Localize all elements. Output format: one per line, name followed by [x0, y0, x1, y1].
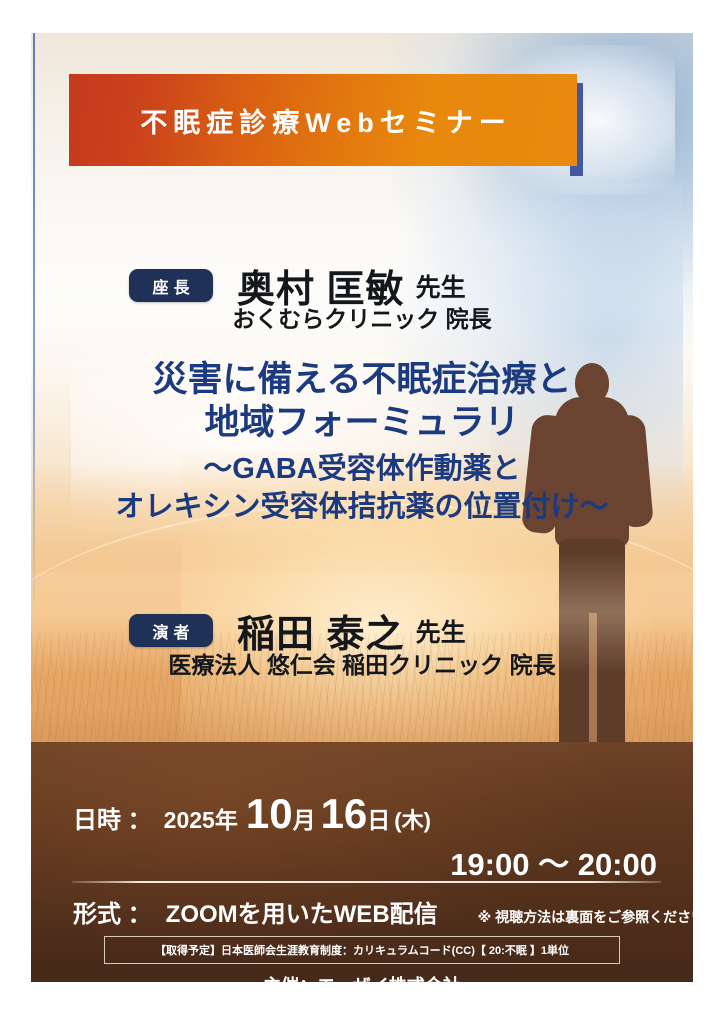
date-year: 2025年 [164, 801, 238, 835]
date-day-number: 16 [321, 790, 368, 838]
panel-divider [72, 881, 661, 883]
speaker-role-badge: 演者 [129, 614, 213, 647]
date-day-unit: 日 [367, 801, 390, 835]
chair-role-badge: 座長 [129, 269, 213, 302]
banner-body: 不眠症診療Webセミナー [69, 74, 577, 166]
lecture-title-line-1: 災害に備える不眠症治療と [31, 359, 693, 402]
title-banner: 不眠症診療Webセミナー [69, 74, 589, 174]
details-panel: 日時 ： 2025年 10 月 16 日 (木) 19:00 ～ 20:00 形… [31, 742, 693, 982]
credit-box: 【取得予定】日本医師会生涯教育制度：カリキュラムコード(CC)【 20:不眠 】… [104, 936, 620, 964]
banner-title-text: 不眠症診療Webセミナー [134, 101, 512, 140]
format-note: ※ 視聴方法は裏面をご参照ください [478, 907, 693, 927]
lecture-title-line-2: 地域フォーミュラリ [31, 402, 693, 445]
time-range: 19:00 ～ 20:00 [450, 839, 657, 884]
date-weekday: (木) [394, 803, 431, 835]
lecture-title-block: 災害に備える不眠症治療と 地域フォーミュラリ ～GABA受容体作動薬と オレキシ… [31, 359, 693, 525]
speaker-honorific: 先生 [416, 613, 466, 649]
chair-honorific: 先生 [416, 268, 466, 304]
sponsor-line: 主催：エーザイ株式会社 [31, 972, 693, 982]
chair-affiliation: おくむらクリニック 院長 [31, 300, 693, 334]
lecture-subtitle-line-2: オレキシン受容体拮抗薬の位置付け～ [31, 490, 693, 525]
poster-root: 不眠症診療Webセミナー 座長 奥村 匡敏 先生 おくむらクリニック 院長 災害… [0, 0, 724, 1024]
date-month-number: 10 [246, 790, 293, 838]
date-month-unit: 月 [293, 801, 316, 835]
format-value: ZOOMを用いたWEB配信 [166, 894, 438, 929]
credit-text: 【取得予定】日本医師会生涯教育制度：カリキュラムコード(CC)【 20:不眠 】… [155, 942, 569, 958]
format-label: 形式 ： [73, 894, 152, 929]
date-line: 日時 ： 2025年 10 月 16 日 (木) [73, 790, 431, 838]
format-row: 形式 ： ZOOMを用いたWEB配信 ※ 視聴方法は裏面をご参照ください [73, 894, 663, 929]
lecture-subtitle-line-1: ～GABA受容体作動薬と [31, 452, 693, 487]
seminar-poster: 不眠症診療Webセミナー 座長 奥村 匡敏 先生 おくむらクリニック 院長 災害… [31, 33, 693, 982]
speaker-affiliation: 医療法人 悠仁会 稲田クリニック 院長 [31, 646, 693, 680]
date-label: 日時 ： [73, 800, 152, 835]
